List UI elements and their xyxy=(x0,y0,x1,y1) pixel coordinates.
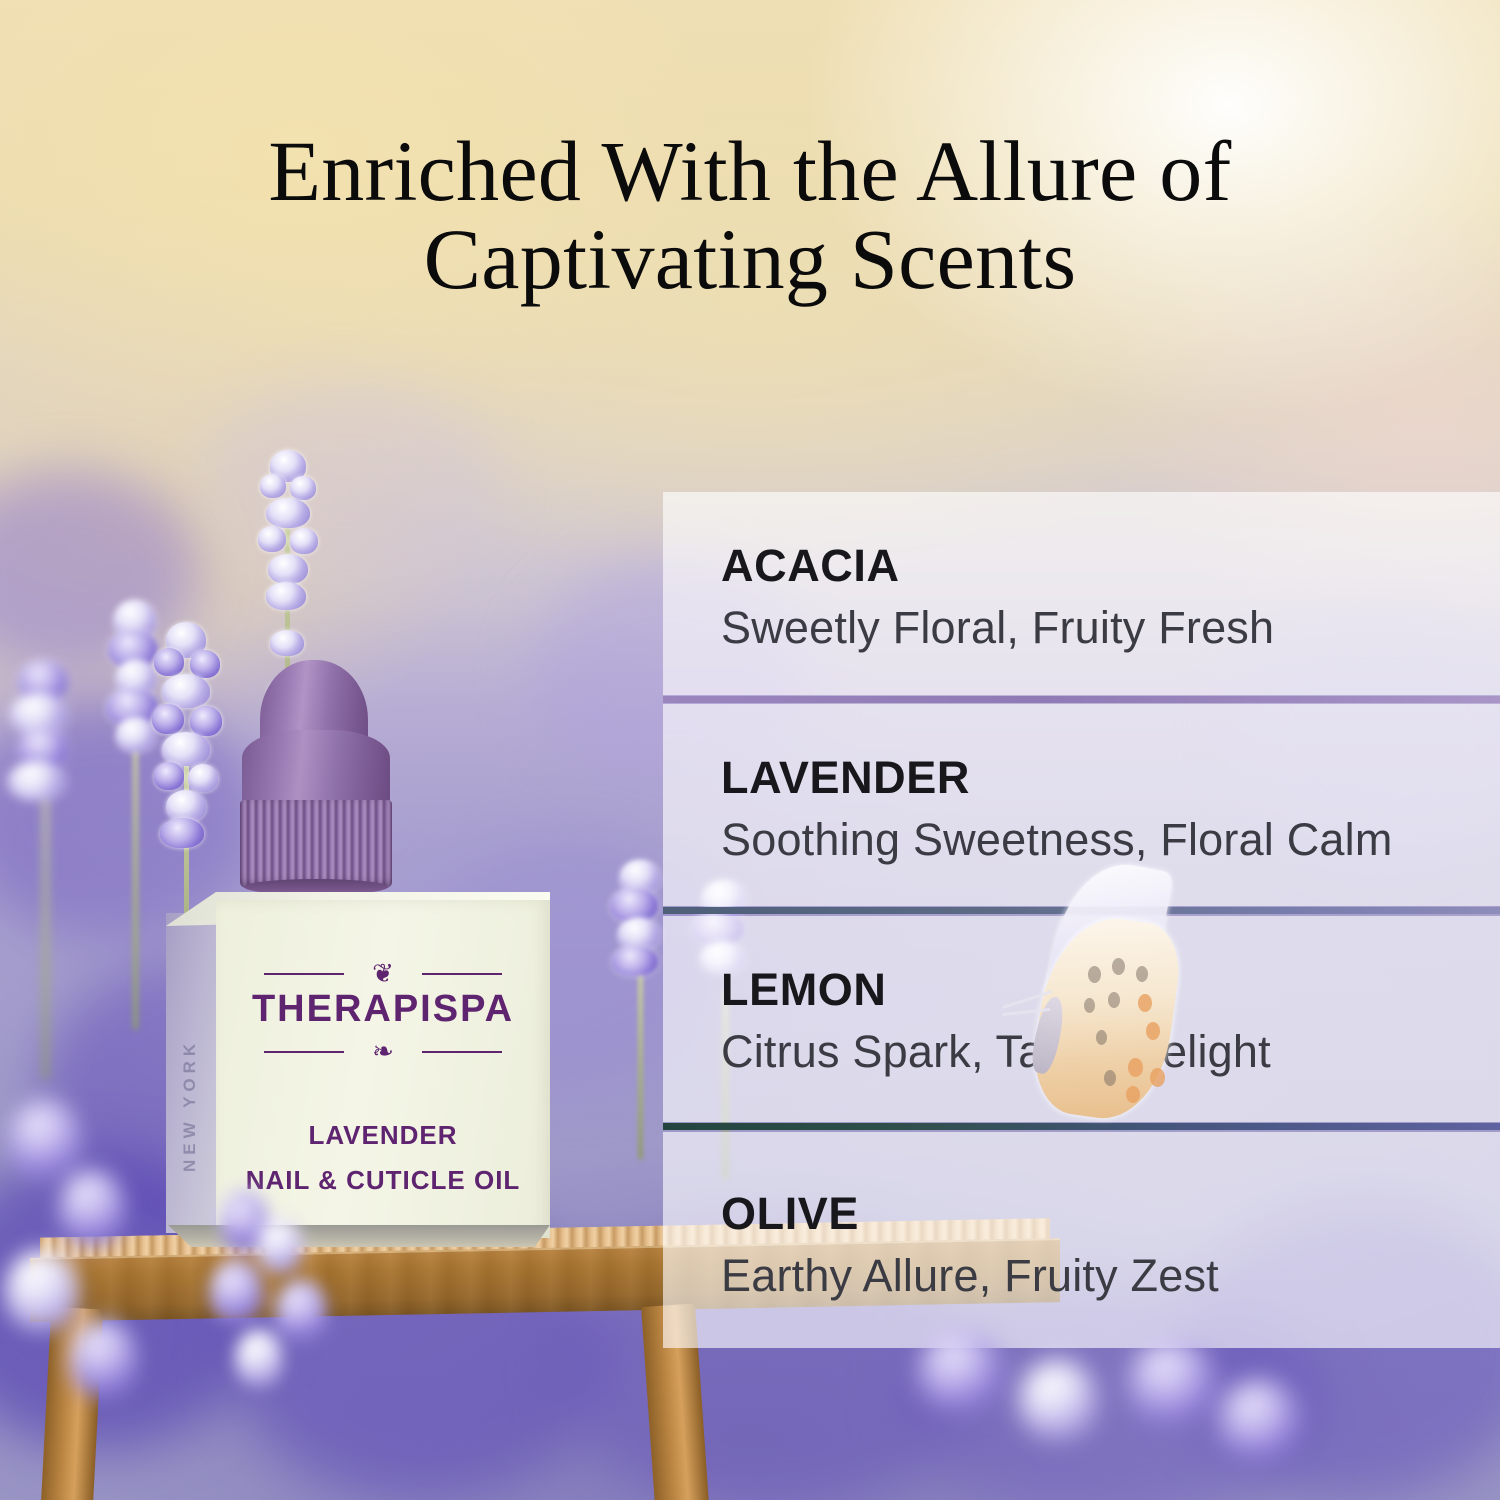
scent-row[interactable]: ACACIA Sweetly Floral, Fruity Fresh xyxy=(663,492,1500,695)
sprig-floret xyxy=(268,554,308,584)
butterfly xyxy=(1000,862,1200,1142)
sprig-floret xyxy=(266,582,306,610)
scent-title: OLIVE xyxy=(721,1188,859,1240)
butterfly-wing-spot xyxy=(1108,992,1120,1008)
product-marketing-image: Enriched With the Allure of Captivating … xyxy=(0,0,1500,1500)
bottle-box-base xyxy=(168,1225,550,1247)
brand-name: THERAPISPA xyxy=(216,988,550,1031)
sprig-floret xyxy=(290,528,318,554)
scent-description: Earthy Allure, Fruity Zest xyxy=(721,1250,1219,1302)
headline: Enriched With the Allure of Captivating … xyxy=(0,128,1500,303)
product-variant: LAVENDER xyxy=(216,1120,550,1151)
butterfly-wing-spot xyxy=(1112,958,1125,975)
butterfly-wing-spot xyxy=(1096,1030,1107,1045)
butterfly-wing-spot xyxy=(1150,1068,1165,1087)
scent-description: Soothing Sweetness, Floral Calm xyxy=(721,814,1393,866)
scent-divider xyxy=(663,696,1500,703)
label-rule-top-right xyxy=(422,973,502,975)
butterfly-wing-spot xyxy=(1088,966,1101,983)
sprig-stem xyxy=(133,730,138,1030)
bottle-origin-text: NEW YORK xyxy=(180,942,200,1172)
sprig-stem xyxy=(638,960,643,1160)
butterfly-wing-spot xyxy=(1128,1058,1143,1077)
scent-row[interactable]: OLIVE Earthy Allure, Fruity Zest xyxy=(663,1132,1500,1348)
scent-title: LEMON xyxy=(721,964,887,1016)
butterfly-wing-spot xyxy=(1136,966,1148,982)
sprig-floret xyxy=(8,762,66,800)
headline-line-2: Captivating Scents xyxy=(0,216,1500,304)
product-type: NAIL & CUTICLE OIL xyxy=(216,1165,550,1196)
butterfly-wing-spot xyxy=(1138,994,1152,1012)
label-rule-top-left xyxy=(264,973,344,975)
butterfly-wing-spot xyxy=(1084,998,1095,1013)
sprig-floret xyxy=(258,526,286,552)
scent-title: LAVENDER xyxy=(721,752,970,804)
sprig-floret xyxy=(260,474,286,498)
headline-line-1: Enriched With the Allure of xyxy=(0,128,1500,216)
butterfly-wing-spot xyxy=(1126,1086,1140,1103)
sprig-floret xyxy=(266,498,310,528)
label-rule-bottom-right xyxy=(422,1051,502,1053)
sprig-floret xyxy=(612,946,658,976)
sprig-floret xyxy=(270,630,304,656)
scent-description: Sweetly Floral, Fruity Fresh xyxy=(721,602,1274,654)
bench-leg-left xyxy=(41,1307,103,1500)
bottle-cap-ribs xyxy=(240,800,392,888)
product-bottle: NEW YORK ❦ THERAPISPA ❧ LAVENDER NAIL & … xyxy=(160,660,580,1260)
butterfly-wing-spot xyxy=(1104,1070,1116,1086)
sprig-floret xyxy=(290,476,316,500)
label-rule-bottom-left xyxy=(264,1051,344,1053)
sprig-floret xyxy=(618,918,660,950)
butterfly-wing-spot xyxy=(1146,1022,1160,1040)
sprig-stem xyxy=(43,790,48,1080)
sprig-floret xyxy=(610,888,658,922)
scent-title: ACACIA xyxy=(721,540,900,592)
lavender-sprig xyxy=(0,660,90,1080)
